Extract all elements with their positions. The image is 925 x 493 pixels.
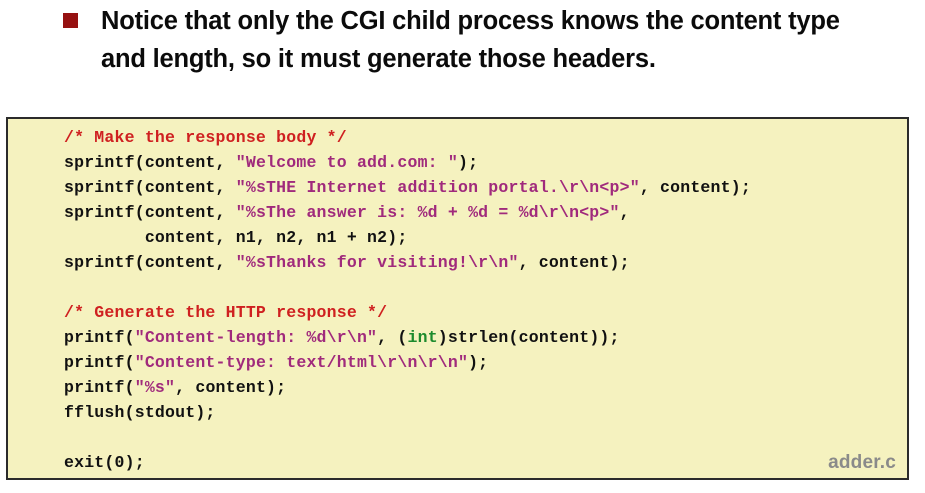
- code-token-plain: sprintf(content,: [64, 253, 236, 272]
- code-token-comment: /* Make the response body */: [64, 128, 347, 147]
- bullet-row: Notice that only the CGI child process k…: [0, 2, 925, 78]
- code-token-plain: , content);: [175, 378, 286, 397]
- code-line: printf("%s", content);: [64, 375, 751, 400]
- code-token-keyword: int: [407, 328, 437, 347]
- heading-text: Notice that only the CGI child process k…: [101, 2, 861, 78]
- slide-heading: Notice that only the CGI child process k…: [0, 0, 925, 108]
- code-token-plain: exit(0);: [64, 453, 145, 472]
- code-token-plain: sprintf(content,: [64, 178, 236, 197]
- code-listing: /* Make the response body */sprintf(cont…: [64, 125, 751, 475]
- code-token-string: "Content-type: text/html\r\n\r\n": [135, 353, 468, 372]
- code-line: printf("Content-length: %d\r\n", (int)st…: [64, 325, 751, 350]
- code-token-string: "%s": [135, 378, 175, 397]
- code-line: sprintf(content, "%sThe answer is: %d + …: [64, 200, 751, 225]
- square-bullet-icon: [63, 13, 78, 28]
- code-token-string: "%sThanks for visiting!\r\n": [236, 253, 519, 272]
- code-panel: /* Make the response body */sprintf(cont…: [6, 117, 909, 480]
- code-token-plain: , content);: [640, 178, 751, 197]
- code-token-plain: );: [458, 153, 478, 172]
- code-token-plain: printf(: [64, 353, 135, 372]
- code-token-string: "Content-length: %d\r\n": [135, 328, 377, 347]
- code-token-plain: printf(: [64, 328, 135, 347]
- code-line: fflush(stdout);: [64, 400, 751, 425]
- code-token-plain: content, n1, n2, n1 + n2);: [64, 228, 407, 247]
- code-line: content, n1, n2, n1 + n2);: [64, 225, 751, 250]
- code-line: [64, 275, 751, 300]
- code-token-plain: sprintf(content,: [64, 203, 236, 222]
- code-token-plain: )strlen(content));: [438, 328, 620, 347]
- source-file-label: adder.c: [828, 452, 896, 474]
- code-line: sprintf(content, "Welcome to add.com: ")…: [64, 150, 751, 175]
- code-token-plain: fflush(stdout);: [64, 403, 216, 422]
- code-line: sprintf(content, "%sThanks for visiting!…: [64, 250, 751, 275]
- code-token-comment: /* Generate the HTTP response */: [64, 303, 387, 322]
- code-token-plain: ,: [620, 203, 630, 222]
- code-line: printf("Content-type: text/html\r\n\r\n"…: [64, 350, 751, 375]
- code-line: /* Make the response body */: [64, 125, 751, 150]
- code-token-plain: sprintf(content,: [64, 153, 236, 172]
- code-token-plain: printf(: [64, 378, 135, 397]
- code-token-plain: );: [468, 353, 488, 372]
- code-token-string: "Welcome to add.com: ": [236, 153, 458, 172]
- code-line: exit(0);: [64, 450, 751, 475]
- code-token-string: "%sThe answer is: %d + %d = %d\r\n<p>": [236, 203, 620, 222]
- code-line: sprintf(content, "%sTHE Internet additio…: [64, 175, 751, 200]
- code-line: [64, 425, 751, 450]
- code-token-plain: , (: [377, 328, 407, 347]
- code-token-string: "%sTHE Internet addition portal.\r\n<p>": [236, 178, 640, 197]
- code-token-plain: , content);: [519, 253, 630, 272]
- code-line: /* Generate the HTTP response */: [64, 300, 751, 325]
